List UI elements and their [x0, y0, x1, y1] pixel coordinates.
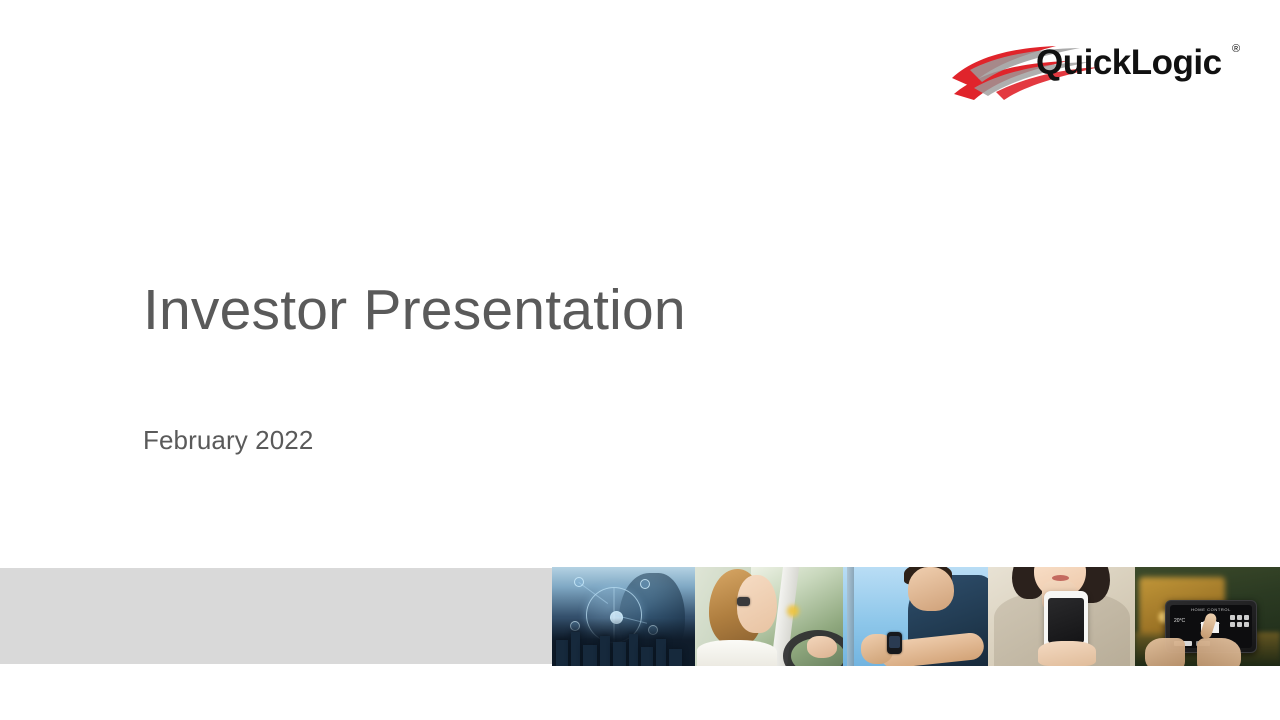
building [600, 636, 610, 666]
network-node-icon [640, 579, 650, 589]
quicklogic-logo: QuickLogic ® [948, 34, 1248, 106]
photo-ai-smart-city [552, 567, 695, 666]
building [571, 632, 580, 666]
control-button [1230, 615, 1235, 620]
hand [1197, 638, 1241, 666]
slide-date-subtitle: February 2022 [143, 423, 313, 457]
hand [1145, 638, 1185, 666]
smartwatch-icon [887, 632, 902, 654]
photo-smart-home-tablet: HOME CONTROL 20°C [1135, 567, 1280, 666]
building [613, 642, 626, 666]
photo-driver-bluetooth [695, 567, 843, 666]
photo-smartwatch-runner [843, 567, 988, 666]
home-control-temperature: 20°C [1174, 618, 1185, 624]
bluetooth-earpiece-icon [737, 597, 750, 606]
face [908, 567, 954, 611]
photo-smartphone-user [988, 567, 1135, 666]
home-control-title: HOME CONTROL [1170, 607, 1252, 612]
building [656, 639, 666, 666]
building [641, 647, 653, 666]
photo-strip: HOME CONTROL 20°C [552, 567, 1280, 666]
control-button [1237, 615, 1242, 620]
presentation-slide: QuickLogic ® Investor Presentation Febru… [0, 0, 1280, 720]
building [669, 649, 682, 666]
shoulder [697, 640, 777, 666]
logo-wordmark: QuickLogic [1036, 43, 1222, 82]
building [583, 645, 597, 666]
hand [807, 636, 837, 658]
title-block: Investor Presentation [143, 276, 1043, 344]
control-button [1244, 615, 1249, 620]
building [556, 640, 568, 666]
control-button [1237, 622, 1242, 627]
control-button-grid [1230, 615, 1249, 627]
pole [847, 567, 854, 666]
logo-trademark-symbol: ® [1232, 43, 1240, 55]
traffic-light-blur [787, 605, 799, 617]
control-button [1230, 622, 1235, 627]
control-button [1244, 622, 1249, 627]
page-title: Investor Presentation [143, 276, 1043, 344]
building [629, 634, 638, 666]
hand [1038, 641, 1096, 666]
